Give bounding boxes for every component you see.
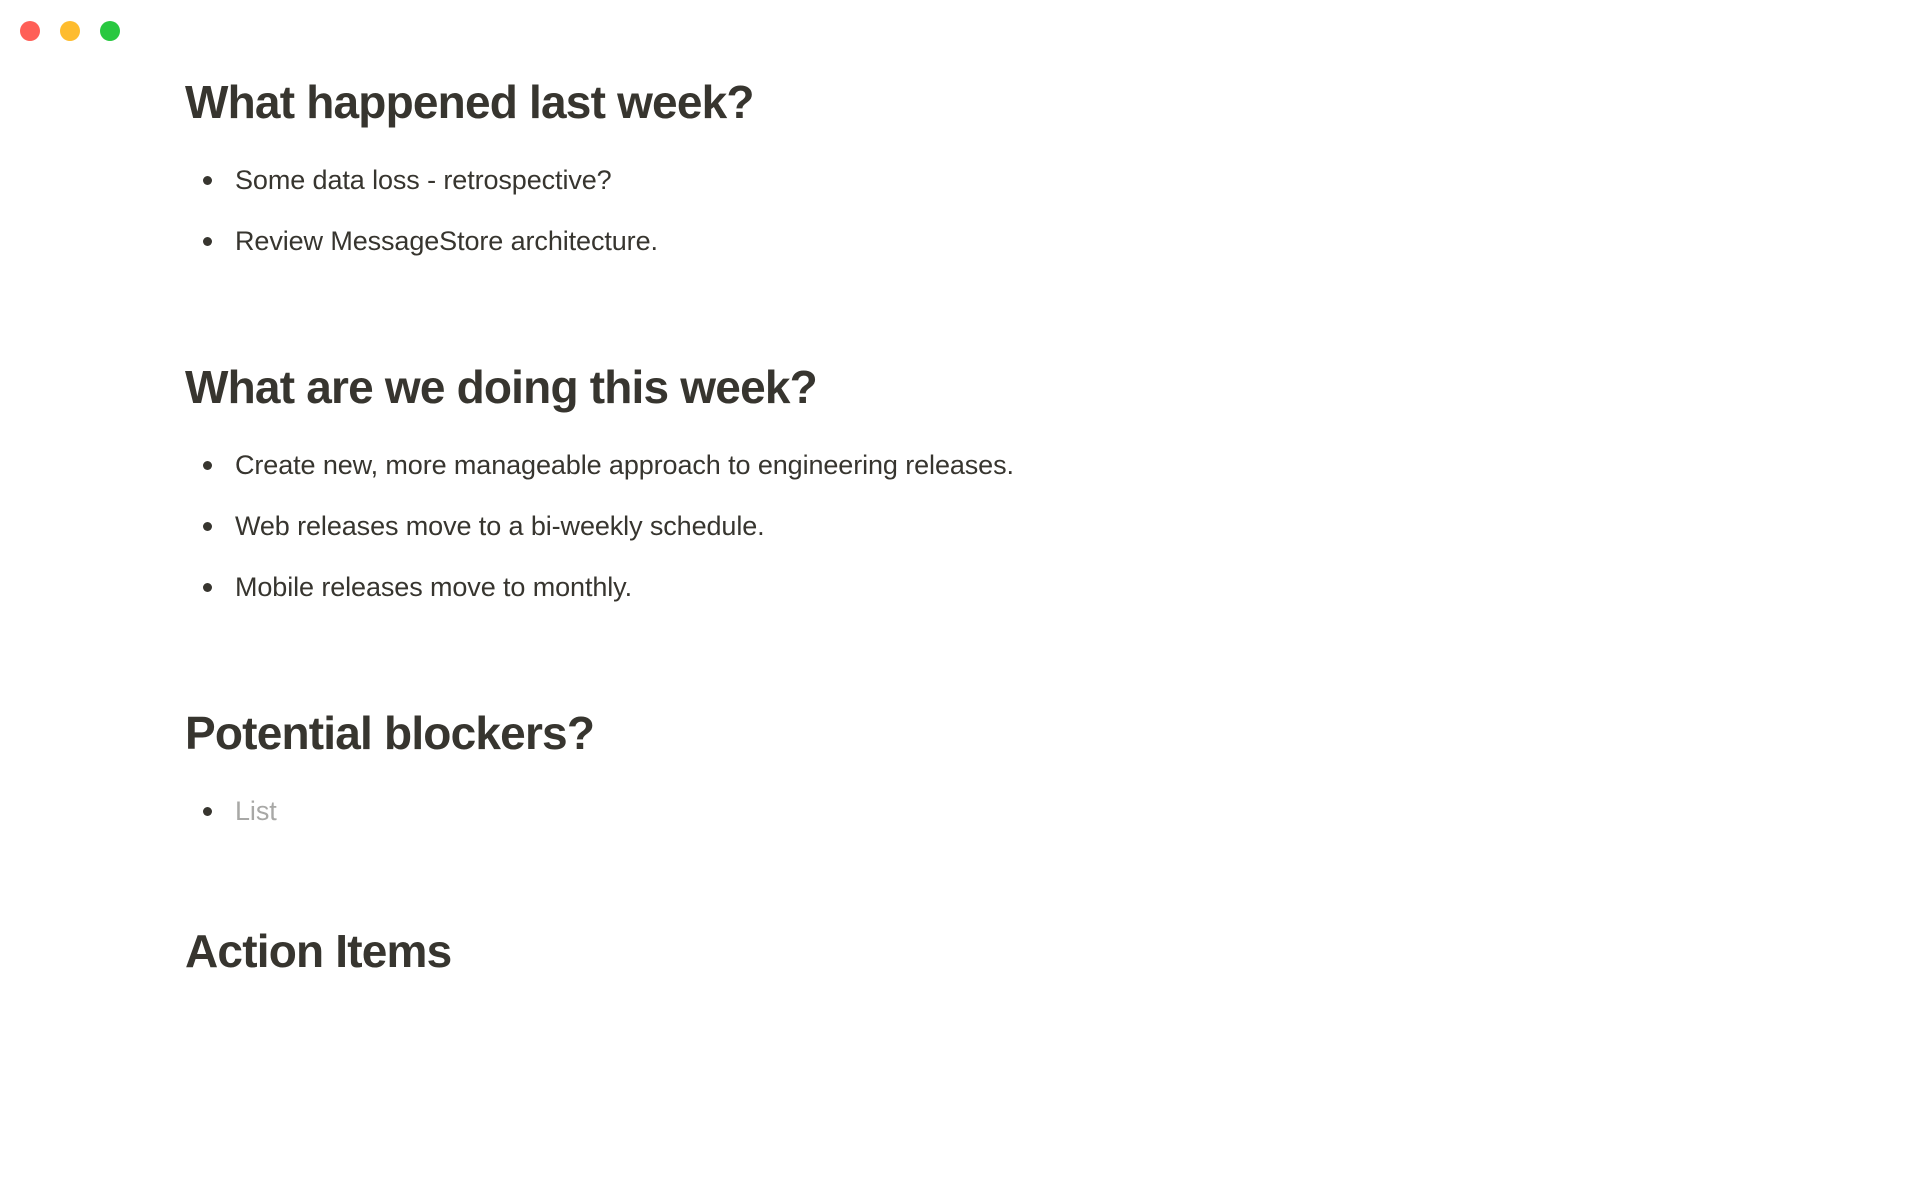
- bullet-list: Some data loss - retrospective? Review M…: [185, 162, 1920, 261]
- list-item[interactable]: Create new, more manageable approach to …: [185, 447, 1920, 485]
- traffic-light-controls: [20, 21, 120, 41]
- bullet-dot-icon: [203, 522, 212, 531]
- document-body: What happened last week? Some data loss …: [0, 62, 1920, 1200]
- list-item-text: Create new, more manageable approach to …: [235, 450, 1014, 480]
- list-item[interactable]: Mobile releases move to monthly.: [185, 569, 1920, 607]
- section-heading[interactable]: What are we doing this week?: [185, 361, 1920, 414]
- bullet-dot-icon: [203, 176, 212, 185]
- section-heading[interactable]: Potential blockers?: [185, 707, 1920, 760]
- maximize-button[interactable]: [100, 21, 120, 41]
- section-heading[interactable]: Action Items: [185, 925, 1920, 978]
- bullet-dot-icon: [203, 583, 212, 592]
- bullet-dot-icon: [203, 237, 212, 246]
- section-heading[interactable]: What happened last week?: [185, 76, 1920, 129]
- bullet-dot-icon: [203, 461, 212, 470]
- list-item-text: Review MessageStore architecture.: [235, 226, 658, 256]
- bullet-list: Create new, more manageable approach to …: [185, 447, 1920, 606]
- list-item[interactable]: Some data loss - retrospective?: [185, 162, 1920, 200]
- list-item[interactable]: List: [185, 793, 1920, 831]
- list-item-text: Web releases move to a bi-weekly schedul…: [235, 511, 765, 541]
- minimize-button[interactable]: [60, 21, 80, 41]
- window-titlebar: [0, 0, 1920, 62]
- list-item-text: Some data loss - retrospective?: [235, 165, 612, 195]
- list-item[interactable]: Web releases move to a bi-weekly schedul…: [185, 508, 1920, 546]
- app-window: What happened last week? Some data loss …: [0, 0, 1920, 1200]
- bullet-dot-icon: [203, 807, 212, 816]
- list-item[interactable]: Review MessageStore architecture.: [185, 223, 1920, 261]
- list-item-placeholder: List: [235, 796, 277, 826]
- bullet-list: List: [185, 793, 1920, 831]
- close-button[interactable]: [20, 21, 40, 41]
- list-item-text: Mobile releases move to monthly.: [235, 572, 632, 602]
